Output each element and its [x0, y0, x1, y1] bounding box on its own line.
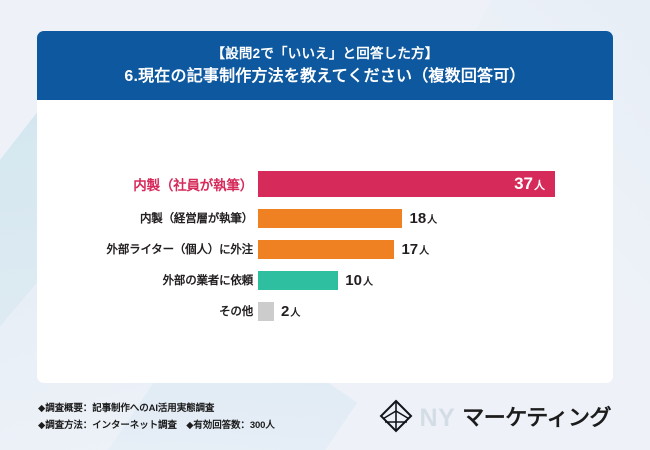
logo-wordmark: マーケティング — [462, 407, 611, 429]
bar-value-unit: 人 — [427, 215, 437, 226]
bar — [258, 271, 338, 290]
bar — [258, 209, 402, 228]
bar-category-label: 外部ライター（個人）に外注 — [37, 241, 258, 257]
bar-track: 37人 — [258, 170, 613, 197]
bar-category-label: 内製（社員が執筆） — [37, 174, 258, 194]
bar — [258, 302, 274, 321]
survey-result-poster: 【設問2で「いいえ」と回答した方】 6.現在の記事制作方法を教えてください（複数… — [0, 0, 650, 450]
bar-chart-row: その他2人 — [37, 300, 613, 322]
brand-logo: NY マーケティング — [379, 399, 613, 438]
bar-track: 18人 — [258, 207, 613, 229]
bar — [258, 240, 394, 259]
bar-value-label: 2人 — [281, 303, 300, 320]
survey-meta: ◆調査概要：記事制作へのAI活用実態調査 ◆調査方法：インターネット調査 ◆有効… — [38, 401, 275, 434]
header-band: 【設問2で「いいえ」と回答した方】 6.現在の記事制作方法を教えてください（複数… — [37, 31, 613, 100]
bar-track: 10人 — [258, 269, 613, 291]
bar-value-unit: 人 — [363, 277, 373, 288]
page-title: 6.現在の記事制作方法を教えてください（複数回答可） — [124, 65, 525, 89]
bar-track: 2人 — [258, 300, 613, 322]
question-context: 【設問2で「いいえ」と回答した方】 — [212, 44, 439, 64]
bar-chart-row: 外部の業者に依頼10人 — [37, 269, 613, 291]
survey-method-line: ◆調査方法：インターネット調査 ◆有効回答数：300人 — [38, 418, 275, 435]
bar-value-unit: 人 — [290, 308, 300, 319]
bar-track: 17人 — [258, 238, 613, 260]
bar-category-label: その他 — [37, 303, 258, 319]
bar-chart: 内製（社員が執筆）37人内製（経営層が執筆）18人外部ライター（個人）に外注17… — [37, 170, 613, 331]
bar-value-label: 17人 — [401, 241, 429, 258]
chart-card: 内製（社員が執筆）37人内製（経営層が執筆）18人外部ライター（個人）に外注17… — [37, 100, 613, 383]
footer: ◆調査概要：記事制作へのAI活用実態調査 ◆調査方法：インターネット調査 ◆有効… — [38, 396, 613, 440]
bar-chart-row: 外部ライター（個人）に外注17人 — [37, 238, 613, 260]
bar-chart-row: 内製（経営層が執筆）18人 — [37, 207, 613, 229]
bar-chart-row: 内製（社員が執筆）37人 — [37, 170, 613, 197]
bar-value-unit: 人 — [419, 246, 429, 257]
bar-value-label: 37人 — [514, 174, 545, 194]
logo-initials: NY — [420, 406, 456, 431]
bar-category-label: 内製（経営層が執筆） — [37, 210, 258, 226]
diamond-origami-icon — [379, 399, 413, 438]
bar-value-label: 18人 — [409, 210, 437, 227]
bar-value-unit: 人 — [534, 180, 545, 192]
survey-overview-line: ◆調査概要：記事制作へのAI活用実態調査 — [38, 401, 275, 418]
bar-category-label: 外部の業者に依頼 — [37, 272, 258, 288]
bar: 37人 — [258, 171, 555, 197]
bar-value-label: 10人 — [345, 272, 373, 289]
